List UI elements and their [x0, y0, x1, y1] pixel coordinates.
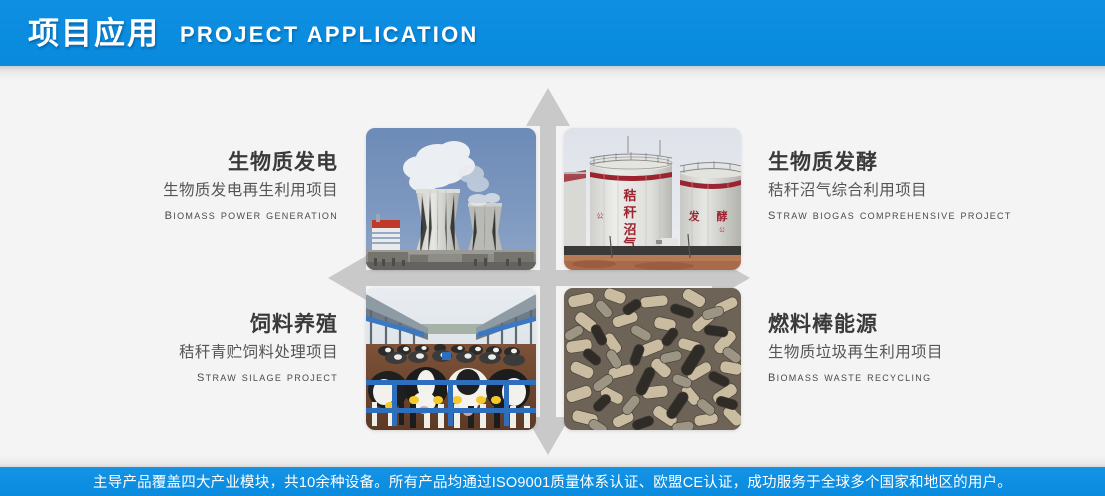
svg-text:秸: 秸 [623, 188, 636, 203]
quadrant-title-en-bottom-right: Biomass waste recycling [768, 368, 1098, 386]
image-dairy-cattle-feedlot[interactable] [366, 288, 536, 430]
svg-text:公: 公 [597, 212, 604, 220]
quadrant-text-top-right: 生物质发酵 秸秆沼气综合利用项目 Straw biogas comprehens… [768, 150, 1098, 224]
image-power-plant-cooling-towers[interactable] [366, 128, 536, 270]
image-biogas-storage-tanks[interactable]: 秸 秆 沼 气 公 发酵 公 [564, 128, 741, 270]
svg-text:秆: 秆 [623, 205, 636, 220]
quadrant-title-en-top-right: Straw biogas comprehensive project [768, 206, 1098, 224]
quadrant-title-cn-bottom-left: 饲料养殖 [8, 312, 338, 338]
page-title-en: PROJECT APPLICATION [180, 24, 479, 46]
footer-statement-text: 主导产品覆盖四大产业模块，共10余种设备。所有产品均通过ISO9001质量体系认… [93, 471, 1012, 492]
page-header-bar: 项目应用 PROJECT APPLICATION [0, 0, 1105, 66]
quadrant-text-bottom-left: 饲料养殖 秸秆青贮饲料处理项目 Straw silage project [8, 312, 338, 386]
quadrant-title-en-top-left: Biomass power generation [8, 206, 338, 224]
quadrant-subtitle-cn-bottom-right: 生物质垃圾再生利用项目 [768, 343, 1098, 363]
svg-text:发: 发 [688, 209, 701, 223]
diagram-stage: 秸 秆 沼 气 公 发酵 公 [0, 66, 1105, 467]
image-biomass-fuel-pellets[interactable] [564, 288, 741, 430]
quadrant-subtitle-cn-top-left: 生物质发电再生利用项目 [8, 181, 338, 201]
svg-text:沼: 沼 [623, 222, 636, 237]
quadrant-title-en-bottom-left: Straw silage project [8, 368, 338, 386]
quadrant-title-cn-top-left: 生物质发电 [8, 150, 338, 176]
quadrant-title-cn-top-right: 生物质发酵 [768, 150, 1098, 176]
page-title-cn: 项目应用 [28, 18, 160, 49]
quadrant-subtitle-cn-top-right: 秸秆沼气综合利用项目 [768, 181, 1098, 201]
cross-arrows-graphic [0, 66, 1105, 467]
quadrant-subtitle-cn-bottom-left: 秸秆青贮饲料处理项目 [8, 343, 338, 363]
svg-text:酵: 酵 [717, 209, 728, 223]
quadrant-title-cn-bottom-right: 燃料棒能源 [768, 312, 1098, 338]
quadrant-text-top-left: 生物质发电 生物质发电再生利用项目 Biomass power generati… [8, 150, 338, 224]
quadrant-text-bottom-right: 燃料棒能源 生物质垃圾再生利用项目 Biomass waste recyclin… [768, 312, 1098, 386]
svg-text:公: 公 [719, 227, 725, 234]
page-footer-bar: 主导产品覆盖四大产业模块，共10余种设备。所有产品均通过ISO9001质量体系认… [0, 467, 1105, 496]
